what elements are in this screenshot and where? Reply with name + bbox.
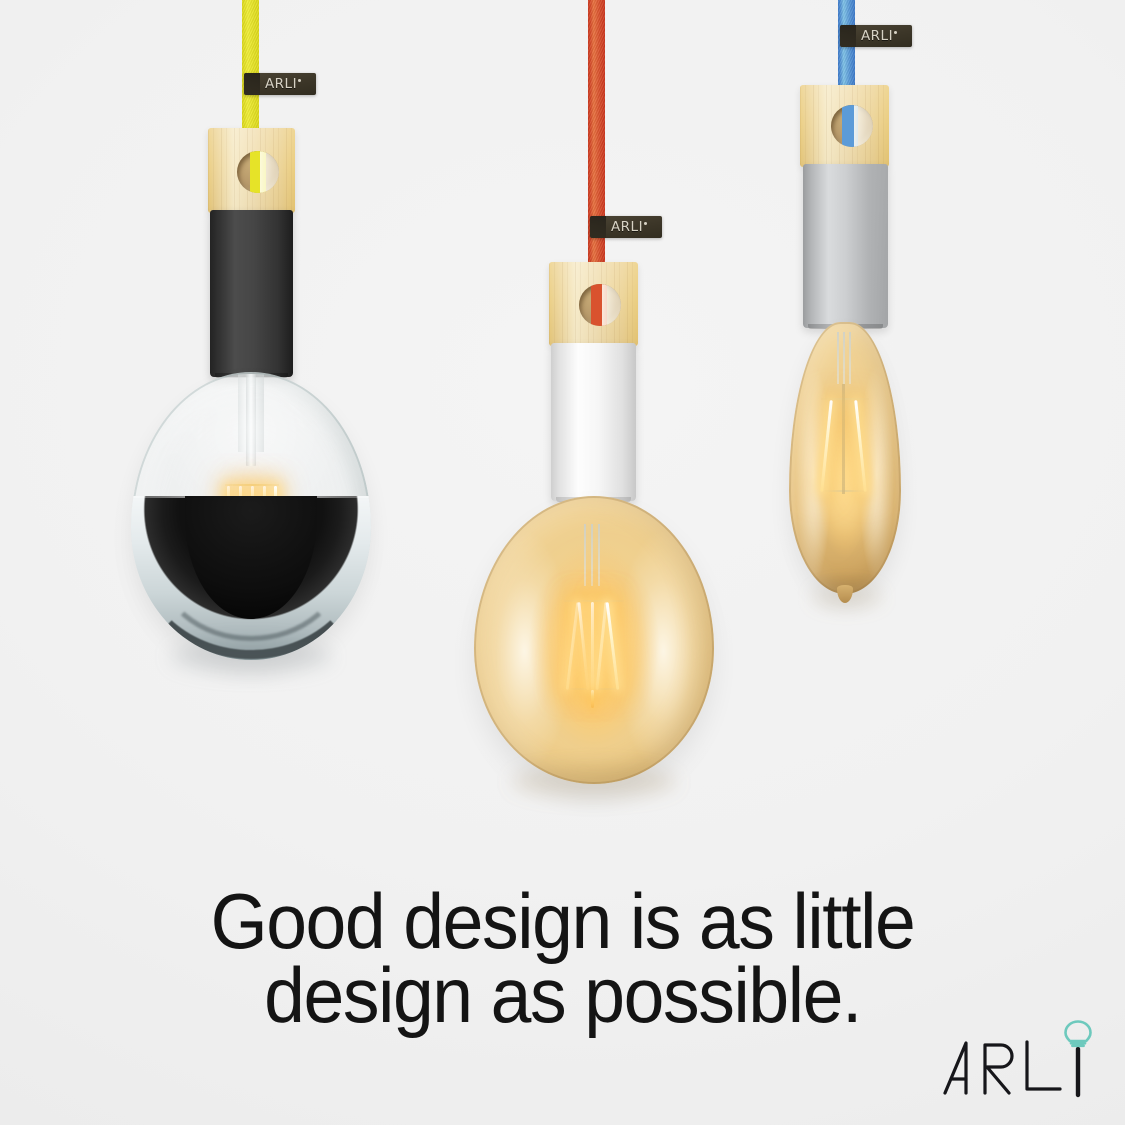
brand-logo[interactable] [939,1015,1107,1111]
bulb-globe-amber [474,496,714,784]
tag-cord-wrap [840,25,856,47]
filament-assembly [819,332,871,532]
filament-crossbar [570,688,618,690]
tag-bulb-dot [298,79,301,82]
tag-bulb-dot [644,222,647,225]
filament-lead [584,524,586,586]
hole-highlight [260,151,279,193]
bulb-globe-mirrored [131,372,371,660]
hole-highlight [854,105,873,147]
cord-hole [237,151,279,193]
cord-orange [588,0,605,286]
filament [591,602,594,690]
logo-letter-r [985,1045,1012,1093]
mirror-arc-inner [155,478,348,641]
floor-reflection [170,640,332,674]
filament [566,602,580,690]
arli-logo-svg [939,1015,1107,1111]
filament-lead [849,332,851,384]
filament [595,602,607,690]
tag-cord-wrap [244,73,260,95]
filament-support [842,384,845,494]
filament-lead [598,524,600,586]
hole-highlight [602,284,621,326]
filament-crossbar [825,490,865,492]
floor-reflection [812,586,882,608]
floor-reflection [512,766,676,798]
filament-crossbar [564,600,624,602]
wood-mount-yellow [208,128,295,213]
wood-mount-blue [800,85,889,167]
filament-crossbar [821,398,869,400]
filament [854,400,867,492]
tag-bulb-dot [894,31,897,34]
filament [820,400,833,492]
filament [606,602,620,690]
filament-assembly [558,524,630,724]
filament-lead [837,332,839,384]
logo-letter-l [1027,1042,1060,1089]
filament [591,690,594,708]
logo-letter-a [945,1043,966,1093]
socket-black [210,210,293,377]
cord-yellow [242,0,259,142]
socket-silver [803,164,888,328]
tag-label: ARLI [856,28,912,44]
tag-label: ARLI [606,219,662,235]
tagline-quote: Good design is as little design as possi… [34,884,1092,1032]
tag-cord-wrap [590,216,606,238]
cord-hole [831,105,873,147]
tagline-line-2: design as possible. [34,958,1092,1032]
filament [577,602,589,690]
bulb-teardrop-amber [789,322,901,594]
cord-tag-yellow: ARLI [244,73,316,95]
cord-tag-orange: ARLI [590,216,662,238]
lightbulb-outline-icon [1066,1022,1091,1046]
tag-label: ARLI [260,76,316,92]
filament-lead [591,524,593,586]
cord-tag-blue: ARLI [840,25,912,47]
filament-lead [843,332,845,384]
cord-hole [579,284,621,326]
poster-canvas: ARLI [0,0,1125,1125]
socket-white [551,343,636,501]
mirror-coating [131,496,371,660]
wood-mount-orange [549,262,638,346]
